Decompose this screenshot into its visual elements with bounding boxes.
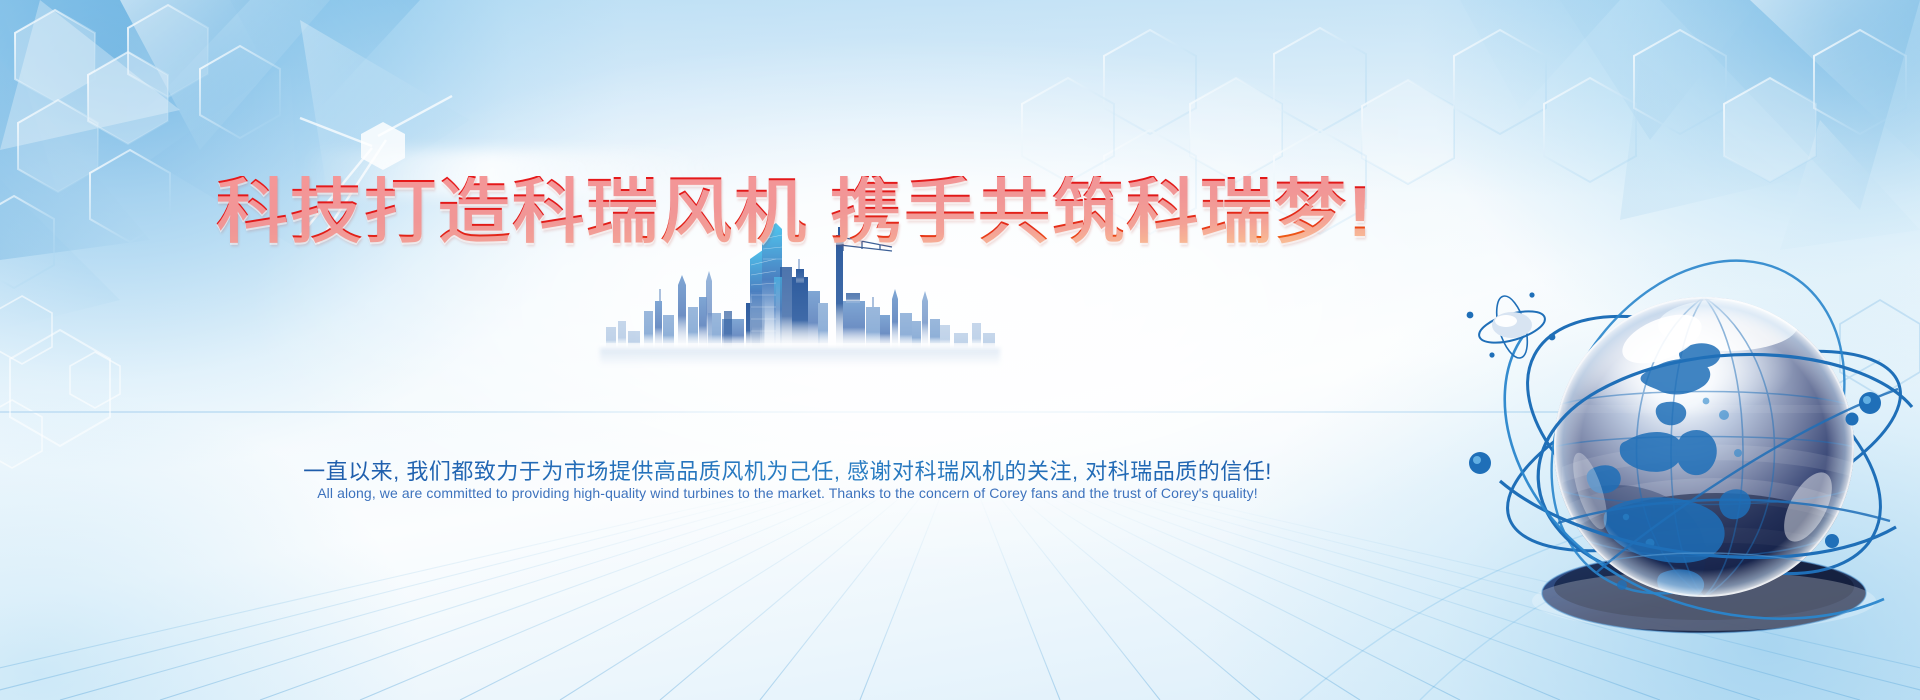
banner-subtitle-chinese: 一直以来, 我们都致力于为市场提供高品质风机为己任, 感谢对科瑞风机的关注, 对… <box>0 459 1575 485</box>
banner-subtitle-english: All along, we are committed to providing… <box>0 484 1575 503</box>
banner-text-content: 科技打造科瑞风机 携手共筑科瑞梦! 一直以来, 我们都致力于为市场提供高品质风机… <box>0 0 1920 700</box>
promo-banner: 科技打造科瑞风机 携手共筑科瑞梦! 一直以来, 我们都致力于为市场提供高品质风机… <box>0 0 1920 700</box>
banner-headline: 科技打造科瑞风机 携手共筑科瑞梦! <box>0 176 1590 248</box>
